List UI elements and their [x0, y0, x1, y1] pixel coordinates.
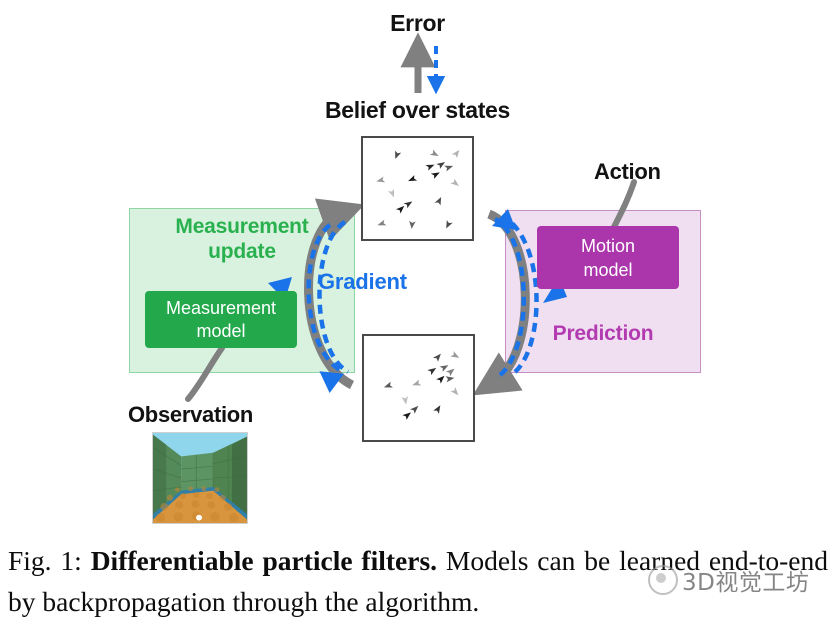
particle	[396, 204, 407, 214]
particle	[376, 220, 386, 228]
measurement-model-line1: Measurement	[166, 297, 276, 320]
maze-observation-thumbnail	[152, 432, 248, 524]
particle	[431, 170, 442, 179]
belief-over-states-label: Belief over states	[0, 97, 835, 124]
measurement-model-box[interactable]: Measurement model	[145, 291, 297, 348]
measurement-model-line2: model	[196, 320, 245, 343]
error-label: Error	[0, 10, 835, 37]
measurement-update-title-line2: update	[129, 239, 355, 264]
particle	[450, 351, 461, 360]
particle	[404, 199, 415, 208]
figure-container: Measurement model Motion model Measureme…	[0, 0, 835, 631]
particle	[411, 380, 421, 389]
particle	[433, 352, 443, 362]
measurement-update-title: Measurement update	[129, 214, 355, 264]
measurement-update-title-line1: Measurement	[129, 214, 355, 239]
action-label: Action	[594, 159, 661, 185]
agent-marker	[196, 515, 202, 521]
arrow-layer	[0, 0, 835, 631]
gradient-label: Gradient	[318, 269, 407, 295]
watermark: 3D视觉工坊	[648, 563, 809, 597]
particle	[433, 404, 443, 414]
particle	[402, 410, 413, 420]
particle-scatter-bottom	[364, 336, 473, 440]
particle-scatter-top	[363, 138, 472, 239]
particle	[392, 151, 401, 160]
particle	[439, 362, 450, 371]
particle	[375, 177, 385, 185]
particle	[450, 387, 460, 397]
belief-particles-bottom-box	[362, 334, 475, 442]
watermark-logo-icon	[648, 565, 678, 595]
particle	[408, 221, 415, 229]
caption-prefix: Fig. 1:	[8, 545, 91, 576]
observation-label: Observation	[128, 402, 253, 428]
particle	[401, 396, 409, 405]
particle	[410, 404, 421, 414]
particle	[425, 162, 435, 171]
watermark-text: 3D视觉工坊	[682, 563, 809, 597]
particle	[444, 163, 454, 171]
particle	[436, 373, 447, 383]
motion-model-line2: model	[583, 258, 632, 282]
particle	[446, 366, 457, 376]
motion-model-line1: Motion	[581, 234, 635, 258]
particle	[430, 150, 441, 159]
particle	[443, 220, 452, 230]
prediction-title: Prediction	[505, 322, 701, 346]
particle	[407, 175, 417, 184]
particle	[383, 382, 393, 391]
particle	[452, 148, 462, 158]
caption-bold-title: Differentiable particle filters.	[91, 545, 437, 576]
particle	[435, 196, 444, 206]
motion-model-box[interactable]: Motion model	[537, 226, 679, 289]
maze-render	[153, 433, 247, 523]
belief-particles-top-box	[361, 136, 474, 241]
particle	[450, 179, 461, 189]
particle	[427, 365, 438, 375]
wall-back	[181, 453, 213, 493]
particle	[436, 159, 447, 168]
particle	[388, 189, 397, 198]
